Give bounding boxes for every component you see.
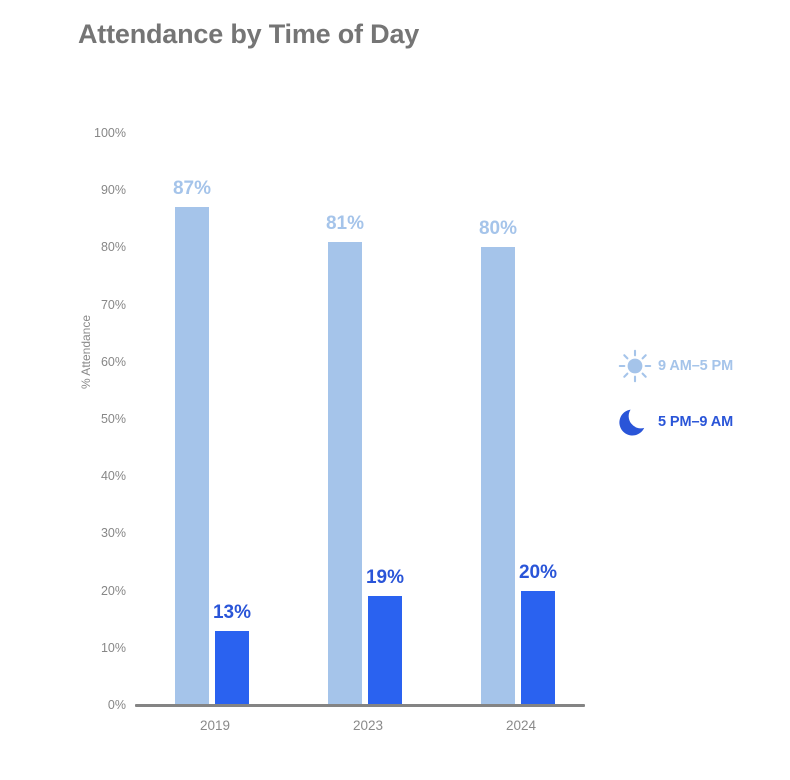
x-label-2024: 2024 [471,718,571,733]
legend-label-day: 9 AM–5 PM [658,358,733,374]
sun-icon [612,349,658,383]
bar-2024-day[interactable]: 80% [481,247,515,705]
chart-legend: 9 AM–5 PM 5 PM–9 AM [612,338,787,450]
bar-value-2024-night: 20% [519,562,557,584]
bar-value-2024-day: 80% [479,218,517,240]
x-axis-labels: 2019 2023 2024 [135,718,585,744]
bar-2023-night[interactable]: 19% [368,596,402,705]
plot-area: 87% 13% 81% 19% 80% 20% [135,133,585,705]
x-label-2023: 2023 [318,718,418,733]
bar-2019-night[interactable]: 13% [215,631,249,705]
x-axis-line [135,704,585,707]
y-tick-30: 30% [101,526,126,540]
legend-item-day[interactable]: 9 AM–5 PM [612,338,787,394]
y-axis-ticks: 100% 90% 80% 70% 60% 50% 40% 30% 20% 10%… [68,133,126,705]
y-tick-40: 40% [101,469,126,483]
bar-2024-night[interactable]: 20% [521,591,555,705]
y-tick-80: 80% [101,240,126,254]
y-tick-100: 100% [94,126,126,140]
y-tick-70: 70% [101,298,126,312]
bar-group-2023: 81% 19% [318,133,418,705]
page-title: Attendance by Time of Day [78,19,419,50]
chart-container: Attendance by Time of Day % Attendance 1… [0,0,790,780]
bar-value-2023-day: 81% [326,213,364,235]
bar-2023-day[interactable]: 81% [328,242,362,705]
legend-label-night: 5 PM–9 AM [658,414,733,430]
moon-icon [612,405,658,439]
y-tick-60: 60% [101,355,126,369]
bar-value-2019-day: 87% [173,178,211,200]
y-tick-0: 0% [108,698,126,712]
bar-group-2024: 80% 20% [471,133,571,705]
y-tick-10: 10% [101,641,126,655]
legend-item-night[interactable]: 5 PM–9 AM [612,394,787,450]
bar-value-2019-night: 13% [213,602,251,624]
y-tick-90: 90% [101,183,126,197]
y-tick-20: 20% [101,584,126,598]
bar-value-2023-night: 19% [366,567,404,589]
bar-2019-day[interactable]: 87% [175,207,209,705]
y-tick-50: 50% [101,412,126,426]
x-label-2019: 2019 [165,718,265,733]
bar-group-2019: 87% 13% [165,133,265,705]
